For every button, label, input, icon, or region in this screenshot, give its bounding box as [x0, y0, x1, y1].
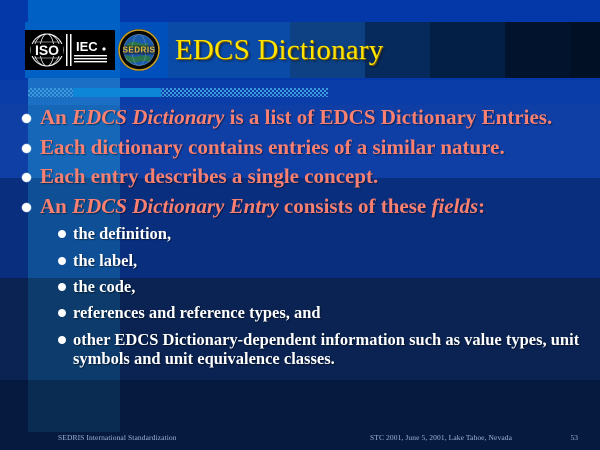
bullet-text: An EDCS Dictionary is a list of EDCS Dic… — [40, 106, 552, 130]
footer-organization: SEDRIS International Standardization — [58, 433, 177, 442]
svg-text:ISO: ISO — [35, 42, 59, 58]
sub-bullet-list: the definition, the label, the code, ref… — [0, 224, 600, 369]
slide-footer: SEDRIS International Standardization STC… — [0, 428, 600, 450]
page-title: EDCS Dictionary — [175, 36, 383, 65]
slide-body: An EDCS Dictionary is a list of EDCS Dic… — [0, 106, 600, 376]
sub-bullet-text: other EDCS Dictionary-dependent informat… — [73, 330, 580, 369]
bullet-text: Each entry describes a single concept. — [40, 165, 378, 189]
svg-text:SEDRIS: SEDRIS — [123, 46, 156, 55]
iso-iec-logo: ISO IEC — [25, 30, 115, 70]
sub-bullet-dot-icon — [58, 230, 66, 238]
bullet-dot-icon — [22, 114, 31, 123]
sub-bullet-text: the definition, — [73, 224, 171, 243]
sub-bullet-item: the label, — [58, 251, 600, 270]
footer-event-info: STC 2001, June 5, 2001, Lake Tahoe, Neva… — [370, 433, 512, 442]
bullet-text: An EDCS Dictionary Entry consists of the… — [40, 195, 485, 219]
bullet-item: An EDCS Dictionary is a list of EDCS Dic… — [0, 106, 600, 130]
slide-header: ISO IEC — [0, 22, 600, 78]
bullet-dot-icon — [22, 144, 31, 153]
bullet-dot-icon — [22, 203, 31, 212]
divider-solid-segment — [73, 88, 161, 97]
sub-bullet-text: the label, — [73, 251, 137, 270]
sub-bullet-item: references and reference types, and — [58, 303, 600, 322]
sub-bullet-item: the definition, — [58, 224, 600, 243]
sub-bullet-dot-icon — [58, 309, 66, 317]
sub-bullet-dot-icon — [58, 257, 66, 265]
footer-page-number: 53 — [571, 433, 579, 442]
svg-text:IEC: IEC — [76, 39, 98, 54]
sedris-globe-logo: SEDRIS — [117, 28, 161, 72]
bullet-item: An EDCS Dictionary Entry consists of the… — [0, 195, 600, 219]
bullet-text: Each dictionary contains entries of a si… — [40, 136, 505, 160]
logo-group: ISO IEC — [25, 28, 161, 72]
sub-bullet-item: the code, — [58, 277, 600, 296]
bullet-dot-icon — [22, 173, 31, 182]
bullet-item: Each dictionary contains entries of a si… — [0, 136, 600, 160]
header-top-left-fill — [0, 0, 28, 22]
sub-bullet-dot-icon — [58, 336, 66, 344]
bullet-item: Each entry describes a single concept. — [0, 165, 600, 189]
sub-bullet-text: references and reference types, and — [73, 303, 321, 322]
header-divider-bar — [28, 88, 328, 97]
sub-bullet-item: other EDCS Dictionary-dependent informat… — [58, 330, 600, 369]
sub-bullet-text: the code, — [73, 277, 135, 296]
presentation-slide: ISO IEC — [0, 0, 600, 450]
sub-bullet-dot-icon — [58, 283, 66, 291]
